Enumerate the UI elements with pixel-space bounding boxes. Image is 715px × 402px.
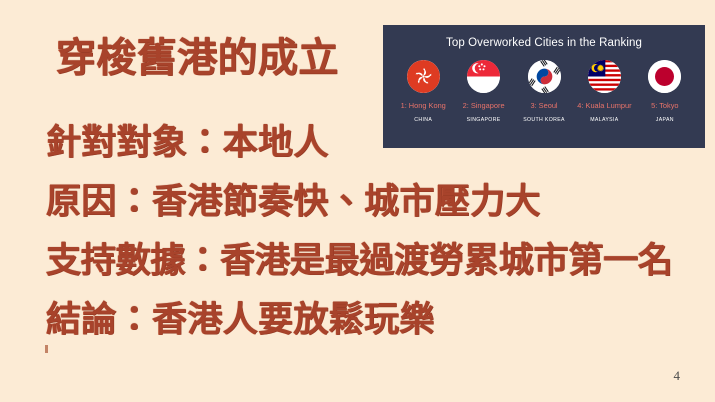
ranking-item-kuala-lumpur[interactable]: 4: Kuala Lumpur MALAYSIA xyxy=(574,60,634,123)
ranking-label-hong-kong: 1: Hong Kong xyxy=(401,101,446,110)
ranking-label-tokyo: 5: Tokyo xyxy=(651,101,678,110)
hong-kong-flag-icon xyxy=(407,60,440,93)
ranking-country-tokyo: JAPAN xyxy=(656,117,674,123)
ranking-country-seoul: SOUTH KOREA xyxy=(523,117,565,123)
slide-canvas: 穿梭舊港的成立 針對對象：本地人 原因：香港節奏快、城市壓力大 支持數據：香港是… xyxy=(0,0,715,402)
japan-flag-icon xyxy=(648,60,681,93)
page-number: 4 xyxy=(674,368,681,384)
ranking-country-singapore: SINGAPORE xyxy=(467,117,501,123)
body-line-reason: 原因：香港節奏快、城市壓力大 xyxy=(46,185,684,220)
ranking-country-hong-kong: CHINA xyxy=(414,117,432,123)
ranking-item-seoul[interactable]: 3: Seoul SOUTH KOREA xyxy=(514,60,574,123)
ranking-item-tokyo[interactable]: 5: Tokyo JAPAN xyxy=(635,60,695,123)
ranking-panel: Top Overworked Cities in the Ranking xyxy=(383,25,705,148)
south-korea-flag-icon xyxy=(528,60,561,93)
ranking-country-kuala-lumpur: MALAYSIA xyxy=(590,117,618,123)
ranking-cities-row: 1: Hong Kong CHINA xyxy=(389,60,699,123)
ranking-label-singapore: 2: Singapore xyxy=(463,101,505,110)
ranking-label-kuala-lumpur: 4: Kuala Lumpur xyxy=(577,101,631,110)
body-line-conclusion: 結論：香港人要放鬆玩樂 xyxy=(46,303,684,338)
ranking-item-singapore[interactable]: 2: Singapore SINGAPORE xyxy=(453,60,513,123)
ranking-panel-title: Top Overworked Cities in the Ranking xyxy=(389,37,699,49)
body-line-supporting-data: 支持數據：香港是最過渡勞累城市第一名 xyxy=(46,244,684,279)
singapore-flag-icon xyxy=(467,60,500,93)
ranking-item-hong-kong[interactable]: 1: Hong Kong CHINA xyxy=(393,60,453,123)
ranking-label-seoul: 3: Seoul xyxy=(530,101,557,110)
malaysia-flag-icon xyxy=(588,60,621,93)
text-cursor-mark xyxy=(45,345,48,353)
